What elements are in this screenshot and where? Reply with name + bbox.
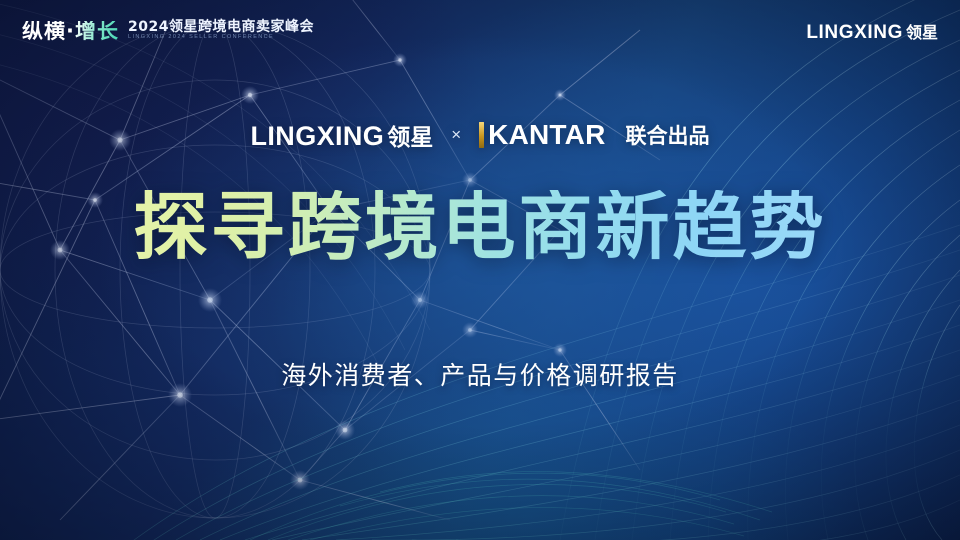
slide-subtitle: 海外消费者、产品与价格调研报告 [281,356,679,392]
cobranding-row: LINGXING 领星 × KANTAR 联合出品 [251,118,710,152]
company-logo-en: LINGXING [806,22,903,44]
event-branding-left: 纵横·增长 2024领星跨境电商卖家峰会 LINGXING 2024 SELLE… [22,20,314,42]
conference-title-cn: 2024领星跨境电商卖家峰会 [128,20,314,35]
event-slogan: 纵横·增长 [22,21,119,42]
cobrand-lingxing-cn: 领星 [387,118,433,152]
cobrand-kantar-label: KANTAR [488,119,605,151]
slide-headline: 探寻跨境电商新趋势 [134,190,827,264]
presentation-slide: 纵横·增长 2024领星跨境电商卖家峰会 LINGXING 2024 SELLE… [0,0,960,540]
conference-title-block: 2024领星跨境电商卖家峰会 LINGXING 2024 SELLER CONF… [128,20,314,42]
conference-title-en: LINGXING 2024 SELLER CONFERENCE [128,35,314,41]
slide-content: LINGXING 领星 × KANTAR 联合出品 探寻跨境电商新趋势 海外消费… [0,118,960,392]
cobrand-kantar: KANTAR [479,119,605,151]
company-logo: LINGXING 领星 [806,19,938,44]
kantar-bar-icon [479,122,484,148]
cobrand-tail-label: 联合出品 [626,120,710,150]
company-logo-cn: 领星 [906,19,938,43]
cobrand-lingxing-en: LINGXING [251,121,385,152]
cobrand-lingxing: LINGXING 领星 [251,118,434,152]
cobrand-separator-icon: × [449,125,463,145]
slide-header: 纵横·增长 2024领星跨境电商卖家峰会 LINGXING 2024 SELLE… [0,0,960,62]
